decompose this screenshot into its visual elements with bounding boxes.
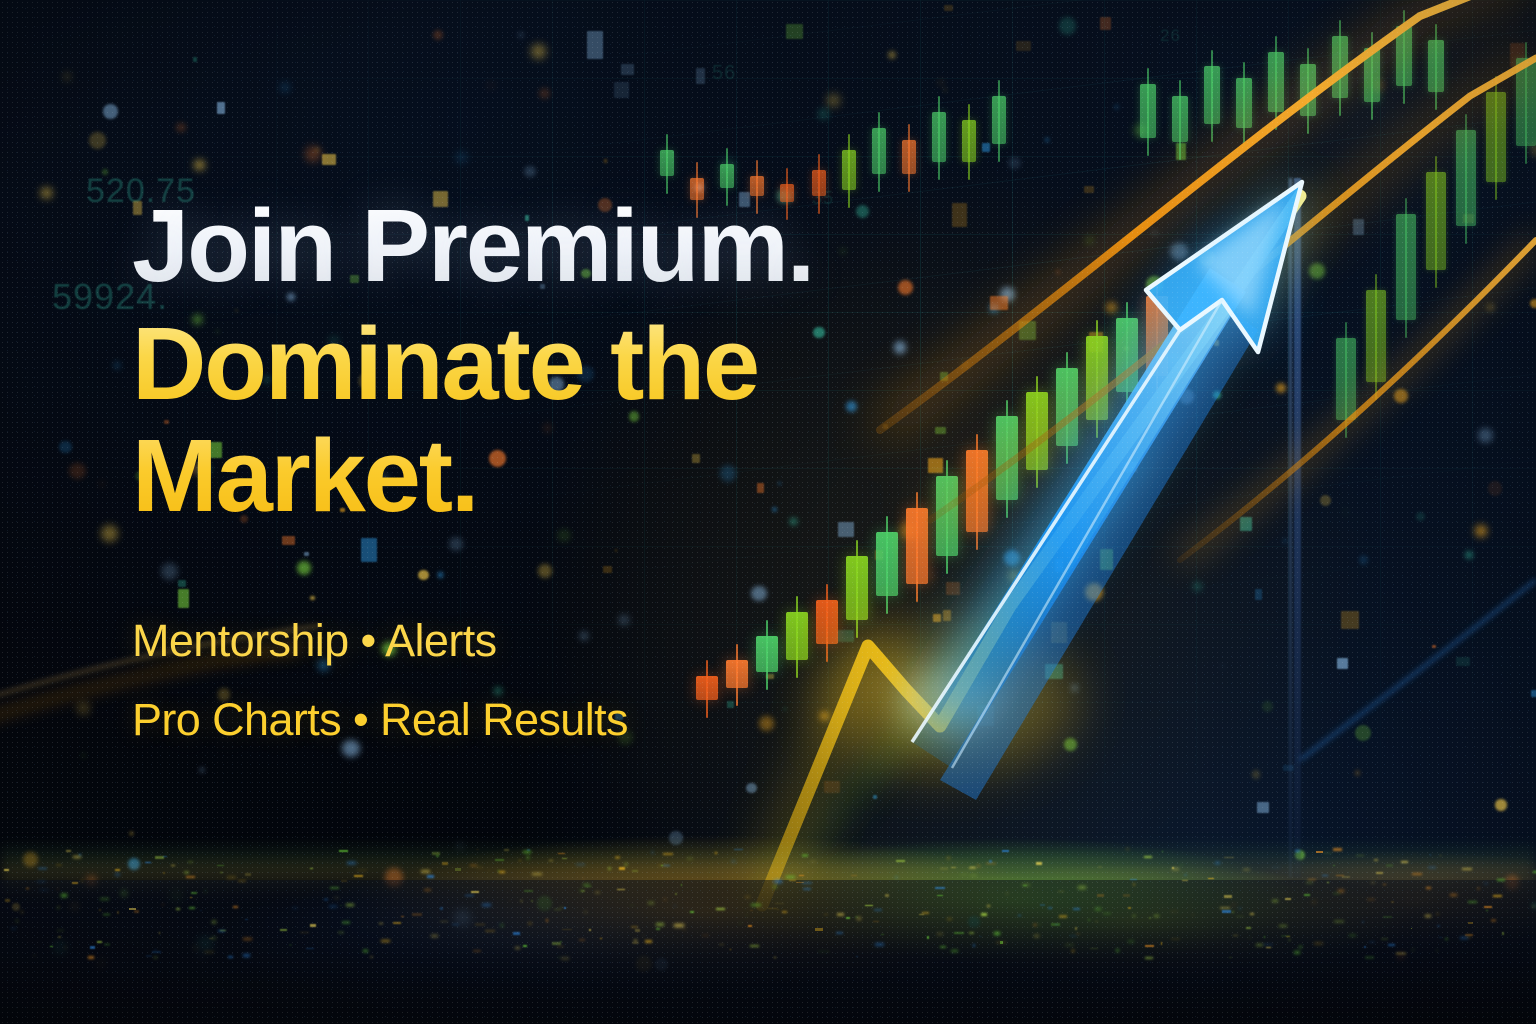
floor-speck	[1327, 882, 1329, 883]
candlestick	[1336, 338, 1356, 420]
data-pixel	[982, 143, 990, 152]
floor-speck	[1088, 919, 1090, 921]
bokeh-dot	[1416, 512, 1425, 521]
floor-speck	[531, 900, 534, 902]
bokeh-dot	[1163, 352, 1181, 370]
floor-speck	[1314, 943, 1323, 944]
candlestick	[1396, 214, 1416, 320]
floor-speck	[634, 940, 637, 942]
floor-speck	[687, 858, 692, 860]
subtitle-line-2: Pro Charts • Real Results	[132, 697, 1032, 744]
floor-speck	[50, 946, 53, 947]
floor-speck	[499, 871, 505, 873]
headline-line-3: Market.	[132, 426, 1032, 526]
floor-speck	[549, 860, 553, 862]
floor-speck	[977, 865, 980, 867]
floor-speck	[1154, 915, 1159, 917]
floor-speck	[1468, 922, 1473, 924]
bokeh-dot	[1396, 951, 1406, 961]
candle-wick	[1371, 32, 1373, 120]
bokeh-dot	[23, 852, 38, 867]
candlestick	[1172, 96, 1188, 142]
floor-speck	[564, 907, 566, 909]
floor-speck	[515, 947, 521, 949]
floor-speck	[440, 907, 444, 909]
bokeh-dot	[895, 876, 898, 879]
floor-speck	[117, 911, 118, 914]
candle-wick	[1211, 50, 1213, 142]
floor-speck	[631, 926, 638, 927]
floor-speck	[1076, 933, 1080, 935]
floor-speck	[1497, 879, 1504, 881]
floor-speck	[115, 869, 120, 870]
floor-speck	[1034, 924, 1036, 926]
floor-speck	[656, 928, 660, 930]
floor-speck	[1465, 934, 1473, 936]
floor-speck	[885, 894, 889, 896]
floor-speck	[818, 951, 828, 952]
floor-speck	[163, 872, 165, 874]
floor-speck	[38, 867, 48, 870]
floor-speck	[1128, 941, 1133, 942]
floor-speck	[615, 856, 620, 859]
floor-speck	[1391, 901, 1394, 904]
floor-speck	[1374, 859, 1378, 861]
data-pixel	[824, 781, 840, 792]
candle-wick	[1525, 42, 1527, 164]
candlestick	[660, 150, 674, 176]
floor-speck	[498, 923, 500, 926]
floor-speck	[1149, 917, 1151, 919]
floor-speck	[521, 900, 522, 903]
floor-speck	[652, 851, 654, 853]
floor-speck	[442, 862, 449, 865]
floor-speck	[1264, 936, 1265, 938]
floor-speck	[1436, 950, 1438, 952]
floor-speck	[1333, 865, 1335, 866]
floor-speck	[347, 862, 356, 864]
floor-speck	[1365, 956, 1374, 959]
floor-speck	[645, 940, 652, 943]
floor-speck	[775, 903, 784, 904]
floor-speck	[1414, 853, 1415, 854]
floor-speck	[658, 865, 667, 866]
floor-speck	[1263, 943, 1273, 946]
floor-speck	[1236, 916, 1244, 917]
floor-speck	[370, 956, 373, 958]
floor-speck	[777, 909, 779, 910]
bokeh-dot	[1170, 243, 1188, 261]
bokeh-dot	[1531, 902, 1536, 909]
ticker-value: 56	[712, 62, 736, 85]
bokeh-dot	[12, 903, 20, 911]
floor-speck	[846, 917, 850, 918]
floor-speck	[119, 867, 121, 868]
floor-speck	[562, 858, 566, 859]
floor-speck	[635, 929, 640, 932]
floor-speck	[560, 941, 561, 942]
candlestick	[1428, 40, 1444, 92]
floor-speck	[1381, 938, 1388, 940]
candlestick	[1426, 172, 1446, 270]
data-pixel	[1051, 622, 1068, 642]
floor-speck	[1123, 894, 1130, 896]
floor-speck	[39, 889, 49, 890]
floor-speck	[969, 867, 976, 869]
floor-speck	[1334, 921, 1344, 922]
floor-speck	[152, 951, 161, 954]
floor-speck	[560, 907, 563, 908]
floor-speck	[1078, 886, 1085, 889]
candlestick	[842, 150, 856, 190]
floor-speck	[532, 873, 542, 875]
floor-speck	[855, 916, 858, 918]
floor-speck	[734, 849, 744, 850]
floor-speck	[56, 864, 62, 866]
floor-speck	[1133, 883, 1135, 886]
floor-speck	[684, 929, 685, 931]
candle-wick	[1375, 274, 1377, 400]
floor-speck	[1364, 946, 1366, 948]
floor-speck	[579, 939, 585, 941]
floor-speck	[947, 857, 950, 859]
candlestick	[720, 164, 734, 188]
floor-speck	[979, 936, 983, 937]
candlestick	[1516, 58, 1536, 146]
floor-speck	[1425, 915, 1430, 917]
data-pixel	[193, 57, 197, 62]
floor-speck	[115, 873, 120, 875]
data-pixel	[1045, 664, 1063, 679]
floor-speck	[702, 935, 709, 936]
floor-speck	[1090, 948, 1099, 949]
floor-speck	[1224, 857, 1234, 858]
floor-speck	[88, 956, 94, 959]
bokeh-dot	[1530, 299, 1536, 309]
bokeh-dot	[1059, 17, 1076, 34]
candlestick	[1268, 52, 1284, 112]
floor-speck	[176, 908, 180, 911]
candle-wick	[938, 96, 940, 180]
floor-speck	[1281, 935, 1290, 936]
floor-speck	[1215, 862, 1220, 864]
bokeh-dot	[655, 958, 668, 971]
bokeh-dot	[103, 104, 118, 119]
floor-speck	[1022, 884, 1030, 886]
data-pixel	[1100, 549, 1113, 570]
floor-speck	[513, 932, 520, 934]
candlestick	[992, 96, 1006, 144]
floor-speck	[1532, 906, 1535, 907]
floor-speck	[786, 876, 795, 877]
bokeh-dot	[1531, 144, 1536, 156]
floor-speck	[1477, 887, 1479, 890]
floor-speck	[1103, 912, 1110, 915]
bokeh-dot	[59, 441, 71, 453]
floor-speck	[617, 889, 625, 890]
floor-speck	[1002, 850, 1009, 852]
bokeh-dot	[943, 88, 946, 91]
bokeh-dot	[720, 156, 736, 172]
floor-speck	[465, 895, 473, 896]
bokeh-dot	[95, 958, 107, 970]
bokeh-dot	[1465, 551, 1473, 559]
floor-speck	[1502, 932, 1504, 935]
floor-speck	[1256, 944, 1263, 946]
floor-speck	[1038, 924, 1041, 925]
floor-speck	[1239, 908, 1241, 910]
bokeh-dot	[938, 80, 943, 85]
data-pixel	[1510, 43, 1525, 66]
floor-speck	[154, 957, 157, 959]
floor-speck	[583, 884, 590, 886]
floor-speck	[719, 944, 724, 945]
floor-speck	[1371, 882, 1375, 883]
floor-speck	[546, 919, 547, 921]
floor-speck	[1295, 850, 1300, 852]
candle-wick	[1096, 320, 1098, 438]
floor-light-band	[0, 840, 1536, 900]
floor-speck	[245, 919, 248, 920]
floor-speck	[1133, 915, 1135, 917]
floor-speck	[751, 904, 761, 907]
floor-speck	[162, 904, 164, 905]
floor-speck	[524, 890, 533, 892]
floor-speck	[393, 922, 401, 923]
bokeh-dot	[72, 904, 77, 909]
floor-speck	[1379, 877, 1380, 879]
floor-speck	[981, 913, 987, 915]
floor-speck	[1059, 915, 1067, 918]
floor-speck	[330, 887, 339, 890]
floor-speck	[488, 870, 489, 872]
floor-speck	[1491, 919, 1497, 922]
bokeh-dot	[191, 944, 200, 953]
data-pixel	[1176, 143, 1186, 160]
floor-speck	[1430, 854, 1431, 855]
floor-speck	[802, 854, 808, 857]
floor-speck	[473, 950, 481, 951]
floor-speck	[730, 949, 731, 950]
floor-speck	[1144, 856, 1152, 858]
data-pixel	[1283, 765, 1293, 771]
bokeh-dot	[52, 940, 68, 956]
floor-speck	[1468, 901, 1477, 903]
floor-speck	[558, 853, 565, 854]
floor-speck	[427, 875, 434, 877]
bokeh-dot	[1486, 303, 1495, 312]
floor-speck	[200, 910, 202, 912]
bokeh-dot	[1505, 875, 1520, 890]
floor-speck	[738, 923, 743, 925]
floor-speck	[186, 876, 195, 878]
bokeh-dot	[1152, 230, 1157, 235]
floor-speck	[57, 888, 59, 889]
floor-speck	[218, 930, 225, 932]
floor-speck	[504, 849, 510, 851]
floor-speck	[339, 850, 348, 852]
floor-speck	[1161, 942, 1162, 944]
floor-speck	[26, 888, 29, 889]
floor-speck	[970, 875, 977, 876]
ticker-value: 26	[1160, 26, 1181, 46]
floor-speck	[1308, 879, 1316, 880]
floor-speck	[750, 945, 759, 947]
floor-speck	[184, 871, 189, 873]
floor-speck	[1411, 928, 1412, 930]
candlestick	[1332, 36, 1348, 98]
floor-speck	[1181, 864, 1182, 865]
bokeh-dot	[101, 525, 118, 542]
floor-speck	[937, 895, 943, 896]
floor-speck	[310, 924, 316, 927]
floor-speck	[341, 880, 347, 881]
candle-wick	[1066, 352, 1068, 464]
candle-wick	[1126, 302, 1128, 410]
data-pixel	[1214, 340, 1218, 345]
floor-speck	[716, 908, 725, 910]
candlestick	[1396, 26, 1412, 86]
floor-speck	[1229, 957, 1232, 958]
floor-speck	[919, 914, 924, 915]
candlestick	[902, 140, 916, 174]
bokeh-dot	[1283, 539, 1286, 542]
floor-speck	[306, 948, 314, 949]
data-pixel	[1016, 41, 1031, 51]
bokeh-dot	[1312, 900, 1316, 904]
floor-speck	[528, 922, 533, 925]
floor-speck	[981, 907, 982, 908]
floor-speck	[1058, 891, 1064, 893]
floor-speck	[212, 937, 217, 938]
data-pixel	[786, 24, 803, 39]
data-pixel	[696, 68, 705, 83]
floor-speck	[379, 923, 383, 924]
floor-speck	[482, 904, 492, 906]
floor-speck	[79, 854, 80, 856]
floor-speck	[1172, 868, 1179, 870]
bokeh-dot	[454, 910, 471, 927]
floor-speck	[412, 913, 422, 916]
bokeh-dot	[1320, 495, 1331, 506]
candle-wick	[1036, 376, 1038, 488]
bokeh-dot	[746, 783, 757, 794]
floor-speck	[1184, 874, 1187, 876]
floor-speck	[630, 905, 634, 906]
floor-speck	[1098, 866, 1101, 868]
floor-speck	[1316, 851, 1323, 854]
headline-line-2: Dominate the	[132, 314, 1032, 414]
floor-speck	[519, 860, 521, 861]
bokeh-dot	[1355, 725, 1371, 741]
floor-speck	[674, 905, 676, 908]
data-pixel	[1257, 802, 1269, 813]
bokeh-dot	[1222, 665, 1225, 668]
floor-speck	[656, 923, 664, 925]
floor-speck	[58, 906, 60, 907]
candlestick	[1366, 290, 1386, 382]
floor-speck	[661, 865, 663, 866]
floor-speck	[1224, 895, 1231, 898]
floor-speck	[1095, 908, 1101, 910]
floor-speck	[774, 880, 782, 883]
floor-speck	[134, 910, 139, 912]
floor-speck	[589, 929, 592, 931]
floor-speck	[746, 914, 747, 917]
candle-wick	[1495, 76, 1497, 200]
floor-speck	[1130, 879, 1137, 880]
floor-speck	[643, 935, 644, 936]
floor-speck	[227, 876, 236, 878]
floor-speck	[803, 888, 810, 890]
bokeh-dot	[1008, 157, 1021, 170]
floor-speck	[1072, 950, 1074, 952]
floor-speck	[836, 932, 844, 934]
candle-wick	[1403, 10, 1405, 104]
floor-speck	[1073, 908, 1081, 911]
floor-speck	[1208, 878, 1214, 879]
floor-speck	[1192, 914, 1194, 916]
floor-speck	[220, 930, 226, 931]
floor-speck	[986, 863, 996, 864]
floor-speck	[989, 860, 991, 863]
floor-speck	[1182, 880, 1189, 882]
candlestick	[1300, 64, 1316, 116]
candle-wick	[998, 80, 1000, 162]
headline-line-1: Join Premium.	[132, 196, 1032, 296]
floor-speck	[625, 863, 627, 866]
floor-speck	[495, 859, 505, 861]
bokeh-dot	[1124, 346, 1129, 351]
data-pixel	[587, 31, 604, 59]
floor-speck	[837, 913, 844, 916]
floor-speck	[1023, 885, 1027, 886]
floor-speck	[194, 898, 196, 899]
floor-speck	[954, 932, 964, 934]
candlestick	[872, 128, 886, 174]
data-pixel	[1432, 645, 1436, 648]
floor-speck	[145, 862, 150, 863]
floor-speck	[238, 880, 246, 883]
bokeh-dot	[1146, 276, 1164, 294]
candle-wick	[1465, 114, 1467, 244]
data-pixel	[1531, 690, 1536, 697]
floor-speck	[155, 856, 164, 859]
floor-speck	[1048, 907, 1052, 909]
floor-speck	[100, 898, 109, 901]
floor-speck	[940, 946, 946, 948]
bokeh-dot	[1064, 738, 1077, 751]
candle-wick	[1275, 36, 1277, 130]
bokeh-dot	[636, 956, 652, 972]
floor-speck	[334, 897, 339, 899]
candlestick	[1140, 84, 1156, 138]
floor-speck	[773, 886, 777, 888]
floor-speck	[146, 955, 152, 957]
floor-speck	[947, 918, 952, 919]
bokeh-dot	[1252, 770, 1260, 778]
data-pixel	[1255, 589, 1262, 600]
bokeh-dot	[1359, 555, 1368, 564]
data-pixel	[1240, 517, 1251, 531]
floor-speck	[171, 865, 175, 866]
data-pixel	[1055, 559, 1064, 572]
floor-speck	[585, 886, 591, 887]
floor-speck	[632, 942, 639, 944]
floor-speck	[1369, 941, 1375, 943]
floor-speck	[1040, 904, 1046, 906]
floor-speck	[470, 865, 478, 867]
